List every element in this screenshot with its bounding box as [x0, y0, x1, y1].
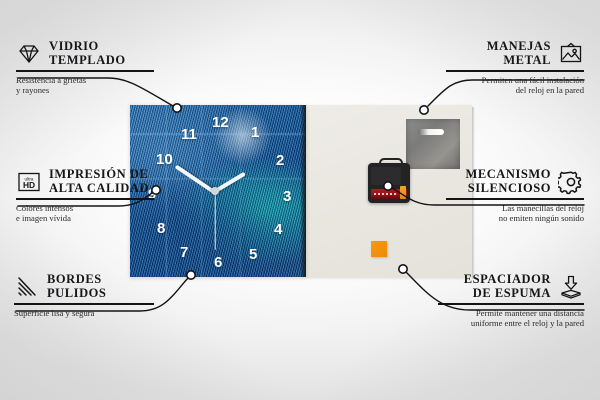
clock-numeral-3: 3 — [283, 189, 291, 204]
foam-spacer-pad — [371, 241, 387, 257]
picture-frame-hanger-icon — [558, 41, 584, 67]
battery — [371, 189, 407, 199]
callout-foam-spacer-title-2: DE ESPUMA — [464, 287, 551, 301]
callout-silent-mechanism-title-2: SILENCIOSO — [465, 182, 551, 196]
callout-foam-spacer[interactable]: ESPACIADOR DE ESPUMA Permite mantener un… — [438, 273, 584, 329]
callout-tempered-glass-title-2: TEMPLADO — [49, 54, 126, 68]
callout-tempered-glass-rule — [16, 70, 154, 72]
callout-hd-print-head: ultra HD IMPRESIÓN DE ALTA CALIDAD — [16, 168, 154, 195]
callout-foam-spacer-head: ESPACIADOR DE ESPUMA — [438, 273, 584, 300]
callout-metal-handles-sub-1: Permiten una fácil instalación — [446, 75, 584, 86]
gear-icon — [558, 169, 584, 195]
callout-polished-edges-head: BORDES PULIDOS — [14, 273, 152, 300]
clock-numeral-7: 7 — [180, 245, 188, 260]
svg-text:HD: HD — [23, 180, 35, 190]
callout-hd-print[interactable]: ultra HD IMPRESIÓN DE ALTA CALIDAD Color… — [16, 168, 154, 224]
callout-hd-print-title-2: ALTA CALIDAD — [49, 182, 149, 196]
clock-numeral-11: 11 — [181, 127, 197, 142]
clock-mechanism-box — [368, 163, 410, 203]
callout-hd-print-sub-2: e imagen vívida — [16, 213, 154, 224]
callout-tempered-glass-sub-2: y rayones — [16, 85, 154, 96]
callout-polished-edges-sub-1: Superficie lisa y segura — [14, 308, 152, 319]
callout-polished-edges-title-1: BORDES — [47, 273, 106, 287]
callout-tempered-glass-title-1: VIDRIO — [49, 40, 126, 54]
glass-clock-face: 12 1 2 3 4 5 6 7 8 9 10 11 — [130, 105, 306, 277]
callout-hd-print-rule — [16, 198, 154, 200]
callout-metal-handles-title-2: METAL — [487, 54, 551, 68]
clock-numeral-5: 5 — [249, 247, 257, 262]
mechanism-housing-highlight — [371, 167, 401, 185]
callout-metal-handles[interactable]: MANEJAS METAL Permiten una fácil instala… — [446, 40, 584, 96]
callout-silent-mechanism-title-1: MECANISMO — [465, 168, 551, 182]
callout-tempered-glass[interactable]: VIDRIO TEMPLADO Resistencia a grietas y … — [16, 40, 154, 96]
callout-foam-spacer-rule — [438, 303, 584, 305]
arrow-down-pad-icon — [558, 274, 584, 300]
hanger-slot — [418, 129, 444, 135]
clock-second-hand — [214, 192, 215, 250]
ultra-hd-icon: ultra HD — [16, 169, 42, 195]
clock-numeral-2: 2 — [276, 153, 284, 168]
battery-label-stripe — [374, 193, 398, 195]
callout-silent-mechanism-sub-2: no emiten ningún sonido — [446, 213, 584, 224]
diamond-icon — [16, 41, 42, 67]
callout-polished-edges-title-2: PULIDOS — [47, 287, 106, 301]
callout-hd-print-title-1: IMPRESIÓN DE — [49, 168, 149, 182]
callout-tempered-glass-head: VIDRIO TEMPLADO — [16, 40, 154, 67]
callout-metal-handles-rule — [446, 70, 584, 72]
callout-foam-spacer-sub-1: Permite mantener una distancia — [438, 308, 584, 319]
product-photo: 12 1 2 3 4 5 6 7 8 9 10 11 — [130, 105, 472, 277]
callout-foam-spacer-sub-2: uniforme entre el reloj y la pared — [438, 318, 584, 329]
infographic-canvas: 12 1 2 3 4 5 6 7 8 9 10 11 — [0, 0, 600, 400]
callout-metal-handles-head: MANEJAS METAL — [446, 40, 584, 67]
metal-hanger-plate — [406, 119, 460, 169]
callout-silent-mechanism-rule — [446, 198, 584, 200]
callout-metal-handles-sub-2: del reloj en la pared — [446, 85, 584, 96]
callout-tempered-glass-sub-1: Resistencia a grietas — [16, 75, 154, 86]
callout-silent-mechanism[interactable]: MECANISMO SILENCIOSO Las manecillas del … — [446, 168, 584, 224]
clock-numeral-4: 4 — [274, 222, 282, 237]
clock-numeral-6: 6 — [214, 255, 222, 270]
polished-edge-icon — [14, 274, 40, 300]
callout-hd-print-sub-1: Colores intensos — [16, 203, 154, 214]
callout-polished-edges-rule — [14, 303, 154, 305]
callout-polished-edges[interactable]: BORDES PULIDOS Superficie lisa y segura — [14, 273, 152, 318]
callout-silent-mechanism-sub-1: Las manecillas del reloj — [446, 203, 584, 214]
clock-numeral-1: 1 — [251, 125, 259, 140]
callout-metal-handles-title-1: MANEJAS — [487, 40, 551, 54]
clock-numeral-12: 12 — [212, 115, 229, 130]
clock-numeral-10: 10 — [156, 152, 173, 167]
callout-silent-mechanism-head: MECANISMO SILENCIOSO — [446, 168, 584, 195]
clock-numeral-8: 8 — [157, 221, 165, 236]
glass-panel-edge — [301, 105, 306, 277]
battery-terminal — [400, 186, 406, 199]
clock-center-cap — [211, 187, 219, 195]
callout-foam-spacer-title-1: ESPACIADOR — [464, 273, 551, 287]
